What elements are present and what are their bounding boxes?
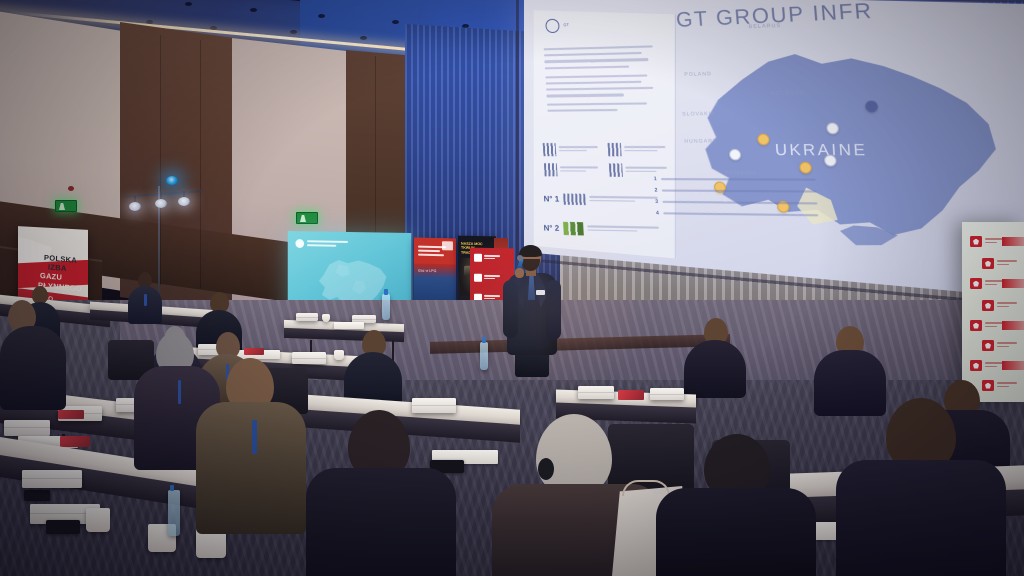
notepad[interactable] (334, 322, 364, 329)
map-pin-3[interactable] (799, 161, 811, 174)
map-pin-6[interactable] (865, 100, 878, 113)
backdrop-logo-icon (474, 274, 482, 282)
stage-spotlight-3 (178, 197, 190, 206)
water-bottle[interactable] (382, 294, 390, 320)
smartphone[interactable] (46, 520, 80, 534)
sponsor-logo-icon (970, 236, 982, 247)
audience-member (128, 272, 162, 322)
audience-member (344, 330, 402, 406)
audience-member (836, 398, 1006, 576)
brochure[interactable] (58, 410, 84, 419)
water-bottle[interactable] (168, 490, 180, 536)
bar-chart-icon (608, 143, 622, 156)
gift-box[interactable] (296, 313, 318, 321)
secondary-screen-logo (295, 239, 348, 249)
sponsor-logo-icon (970, 278, 982, 289)
audience-member (684, 318, 746, 392)
map-country-label: UKRAINE (774, 141, 868, 160)
map-pin-1[interactable] (757, 133, 769, 145)
sponsor-logo-icon (982, 340, 994, 351)
gift-box[interactable] (578, 386, 614, 399)
rank-row-1: N° 1 (543, 193, 669, 206)
coffee-cup[interactable] (334, 350, 344, 360)
stat-badge-2 (608, 143, 670, 157)
main-projection-screen: GT GROUP INFR UKRAINE BELARUS POLAND SLO… (524, 0, 1024, 303)
gift-box[interactable] (22, 470, 82, 488)
sponsor-logo-icon (982, 258, 994, 269)
audience-member (196, 358, 306, 528)
banner-orange-subline: Gaz w LPG (418, 269, 436, 273)
speaker-name-badge (536, 290, 545, 295)
map-label-moldova: MOLDOVA (770, 90, 805, 97)
bar-chart-icon (544, 163, 558, 176)
smartphone[interactable] (24, 490, 50, 501)
slide-bullet: 2 (654, 187, 816, 194)
rank-icon-2 (563, 222, 584, 236)
audience-member (306, 410, 456, 576)
slide-bullet: 1 (654, 176, 816, 183)
slide-bullet-list: 1 2 3 4 (654, 176, 819, 224)
map-pin-5[interactable] (826, 122, 838, 135)
bar-chart-icon (543, 143, 557, 156)
stage-spotlight-2 (155, 199, 167, 208)
bar-chart-icon (609, 163, 623, 176)
map-pin-2[interactable] (729, 149, 741, 161)
rank-icon-1 (563, 194, 586, 205)
slide-bullet: 4 (656, 210, 819, 218)
translation-headset-icon (538, 458, 554, 480)
flame-logo-icon (295, 239, 304, 248)
coffee-cup[interactable] (322, 314, 330, 322)
water-bottle[interactable] (480, 342, 488, 370)
fire-alarm-indicator (68, 186, 74, 191)
gt-logo-icon (546, 19, 560, 34)
coffee-cup[interactable] (86, 508, 110, 532)
audience-member (656, 434, 816, 576)
gt-logo-text: GT (563, 20, 628, 27)
slide-bullet: 3 (655, 199, 818, 207)
stage-spotlight-1 (129, 202, 141, 211)
gift-box[interactable] (650, 388, 684, 400)
sponsor-logo-icon (970, 320, 982, 331)
map-label-slovakia: SLOVAKIA (682, 111, 716, 118)
map-label-hungary: HUNGARY (684, 138, 718, 145)
map-pin-4[interactable] (824, 154, 836, 167)
exit-sign-left (55, 200, 77, 212)
stat-badge-3 (544, 163, 604, 176)
conference-hall-photo: GT GROUP INFR UKRAINE BELARUS POLAND SLO… (0, 0, 1024, 576)
slide-info-panel: GT (534, 10, 676, 258)
audience-member (0, 300, 66, 404)
brochure[interactable] (60, 436, 90, 447)
gift-box[interactable] (4, 420, 50, 436)
exit-sign-center (296, 212, 318, 224)
stage-spotlight-blue (166, 176, 178, 185)
slide-stat-grid (543, 143, 671, 177)
slide-paragraph (544, 45, 659, 115)
map-label-poland: POLAND (684, 71, 712, 78)
presenter-speaker (503, 246, 561, 374)
sponsor-logo-icon (970, 360, 982, 371)
stat-badge-1 (543, 143, 603, 156)
backdrop-logo-icon (474, 254, 482, 262)
sponsor-branding-wall (962, 222, 1024, 402)
map-label-belarus: BELARUS (748, 23, 781, 31)
brochure[interactable] (618, 390, 644, 400)
rank-row-2: N° 2 (543, 221, 670, 237)
sponsor-logo-icon (982, 300, 994, 311)
